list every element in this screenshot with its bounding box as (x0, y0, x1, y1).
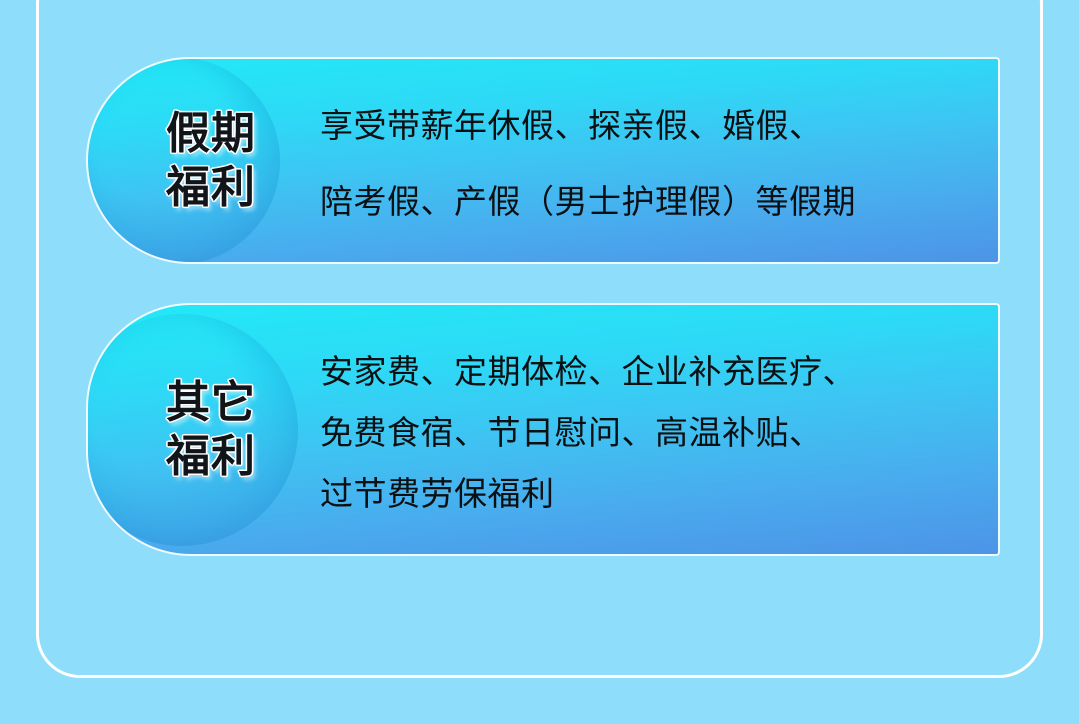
benefit-card-tag: 假期福利 (88, 59, 334, 262)
benefit-card-body-line: 陪考假、产假（男士护理假）等假期 (320, 175, 980, 223)
benefit-card-body: 安家费、定期体检、企业补充医疗、免费食宿、节日慰问、高温补贴、过节费劳保福利 (320, 305, 980, 554)
benefit-card[interactable]: 其它福利安家费、定期体检、企业补充医疗、免费食宿、节日慰问、高温补贴、过节费劳保… (86, 303, 1000, 556)
benefit-card-list: 假期福利享受带薪年休假、探亲假、婚假、陪考假、产假（男士护理假）等假期其它福利安… (0, 0, 1079, 724)
benefit-card-tag-line: 假期 (166, 107, 256, 161)
benefit-card-tag-line: 福利 (166, 430, 256, 484)
benefit-card-body-line: 免费食宿、节日慰问、高温补贴、 (320, 406, 980, 454)
benefit-card-body-line: 过节费劳保福利 (320, 467, 980, 515)
benefit-card-tag: 其它福利 (88, 305, 334, 554)
benefit-card[interactable]: 假期福利享受带薪年休假、探亲假、婚假、陪考假、产假（男士护理假）等假期 (86, 57, 1000, 264)
benefit-card-body-line: 享受带薪年休假、探亲假、婚假、 (320, 99, 980, 147)
benefit-card-tag-line: 福利 (166, 161, 256, 215)
benefit-card-body-line: 安家费、定期体检、企业补充医疗、 (320, 345, 980, 393)
benefit-card-tag-line: 其它 (166, 376, 256, 430)
benefit-card-body: 享受带薪年休假、探亲假、婚假、陪考假、产假（男士护理假）等假期 (320, 59, 980, 262)
